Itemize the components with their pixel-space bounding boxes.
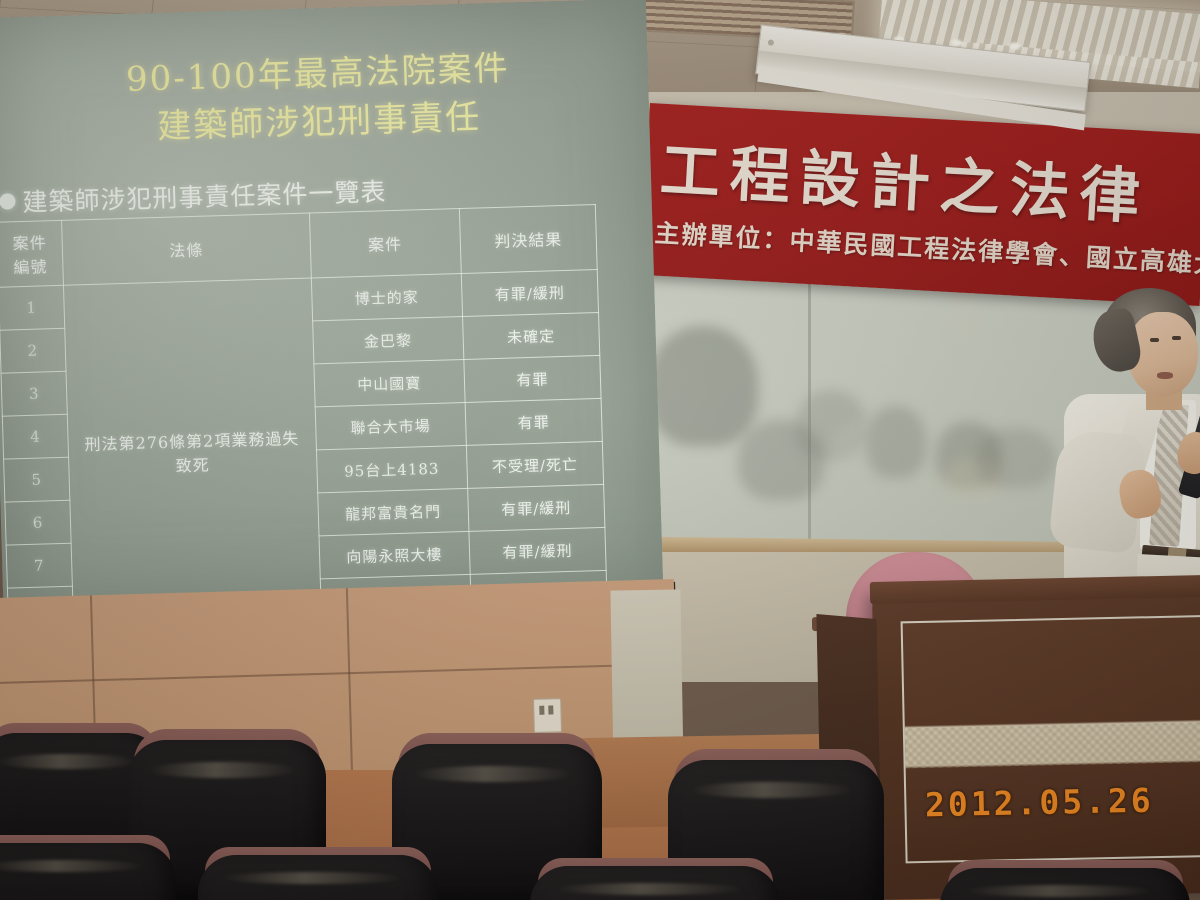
cell-verdict: 有罪/緩刑 [461,269,598,316]
auditorium-seat [940,868,1190,900]
speaker-mouth [1157,372,1173,379]
presentation-slide: 90-100年最高法院案件 建築師涉犯刑事責任 建築師涉犯刑事責任案件一覽表 案… [0,0,663,602]
header-case-number-line-2: 編號 [0,253,61,279]
auditorium-seat [198,855,438,900]
cell-verdict: 有罪 [464,355,601,402]
cell-case-number: 4 [2,414,68,459]
cell-case-name: 向陽永照大樓 [319,531,471,578]
lectern [872,587,1200,900]
cell-case-name: 聯合大市場 [315,402,467,449]
cell-verdict: 有罪/緩刑 [469,527,606,574]
header-case-number-line-1: 案件 [0,229,60,255]
housing-screw-icon [768,39,775,46]
cell-case-name: 中山國寶 [313,359,465,406]
cell-verdict: 有罪 [465,398,602,445]
cell-case-name: 博士的家 [311,274,463,321]
case-table: 案件 編號 法條 案件 判決結果 1 刑法第276條第2項業務過失 致死 [0,204,608,632]
table-body: 1 刑法第276條第2項業務過失 致死 博士的家 有罪/緩刑 2 金巴黎 未確定 [0,269,607,631]
cell-case-number: 1 [0,285,65,330]
event-banner: 工程設計之法律 主辦單位：中華民國工程法律學會、國立高雄大 [640,103,1200,306]
speaker-eye-left [1150,338,1159,342]
cell-verdict: 未確定 [462,312,599,359]
bullet-dot-icon [0,193,16,209]
lecture-hall-photo: 工程設計之法律 主辦單位：中華民國工程法律學會、國立高雄大 90-100年最高法… [0,0,1200,900]
cell-case-number: 2 [0,328,66,373]
header-law-article: 法條 [62,213,311,285]
wall-power-outlet [533,698,562,733]
header-verdict: 判決結果 [459,205,597,274]
header-case-name: 案件 [309,209,461,278]
lectern-front-panel [901,615,1200,864]
cell-case-name: 金巴黎 [312,316,464,363]
projection-screen: 90-100年最高法院案件 建築師涉犯刑事責任 建築師涉犯刑事責任案件一覽表 案… [0,0,663,610]
speaker-person [1032,288,1200,618]
auditorium-seat [530,866,780,900]
cell-case-name: 龍邦富貴名門 [317,488,469,535]
cell-law-article: 刑法第276條第2項業務過失 致死 [64,278,322,629]
auditorium-seat [0,843,176,900]
speaker-eye-right [1172,336,1181,340]
slide-title: 90-100年最高法院案件 建築師涉犯刑事責任 [0,40,650,156]
cell-case-number: 6 [5,500,71,545]
header-case-number: 案件 編號 [0,220,64,287]
cell-verdict: 有罪/緩刑 [468,484,605,531]
cell-case-number: 7 [6,543,72,588]
cell-case-name: 95台上4183 [316,445,468,492]
cell-verdict: 不受理/死亡 [466,441,603,488]
cell-case-number: 5 [4,457,70,502]
cell-case-number: 3 [1,371,67,416]
photo-timestamp: 2012.05.26 [925,781,1154,825]
